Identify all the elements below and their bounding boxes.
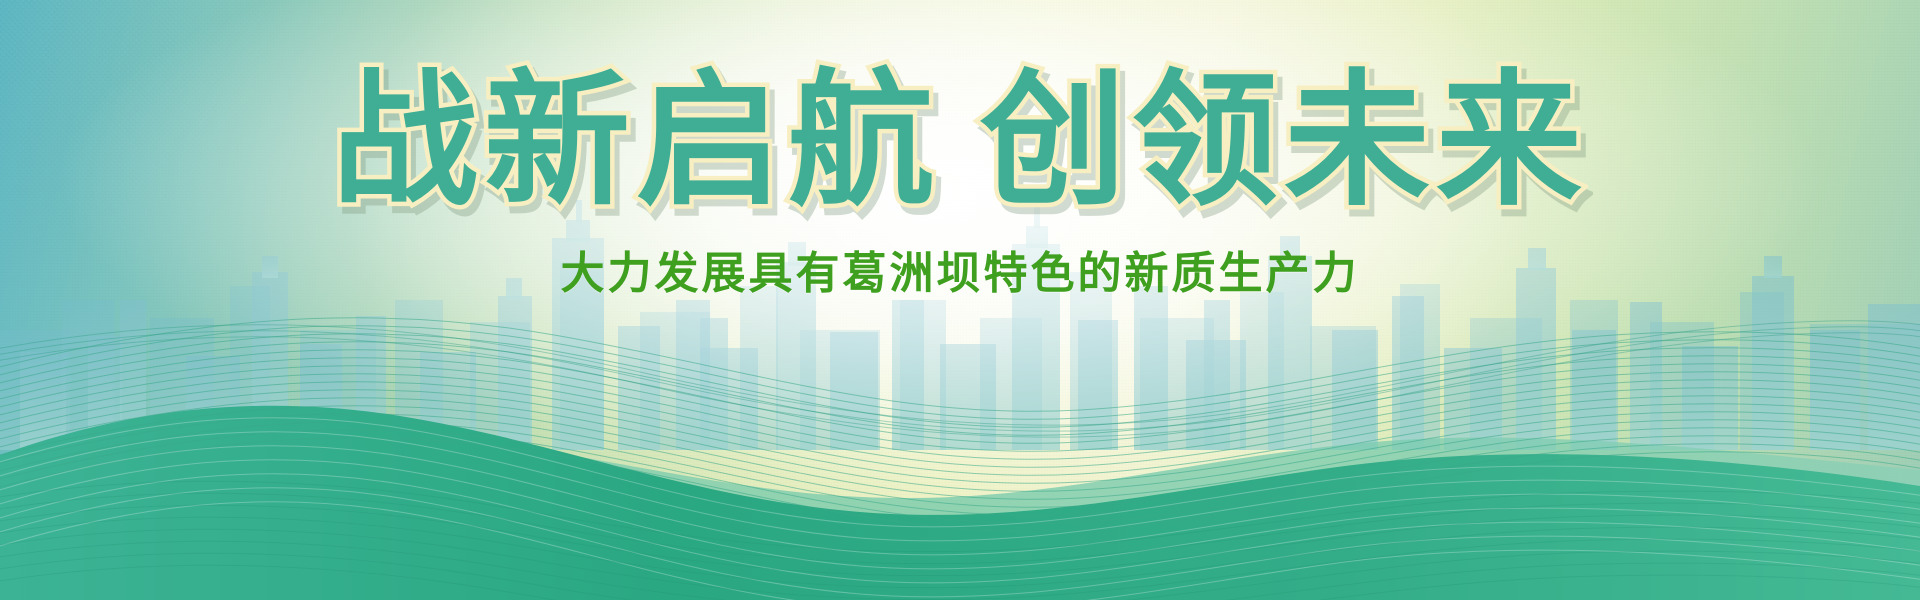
foreground-contour-lines — [0, 0, 1920, 600]
promotional-banner: 战新启航创领未来 大力发展具有葛洲坝特色的新质生产力 — [0, 0, 1920, 600]
